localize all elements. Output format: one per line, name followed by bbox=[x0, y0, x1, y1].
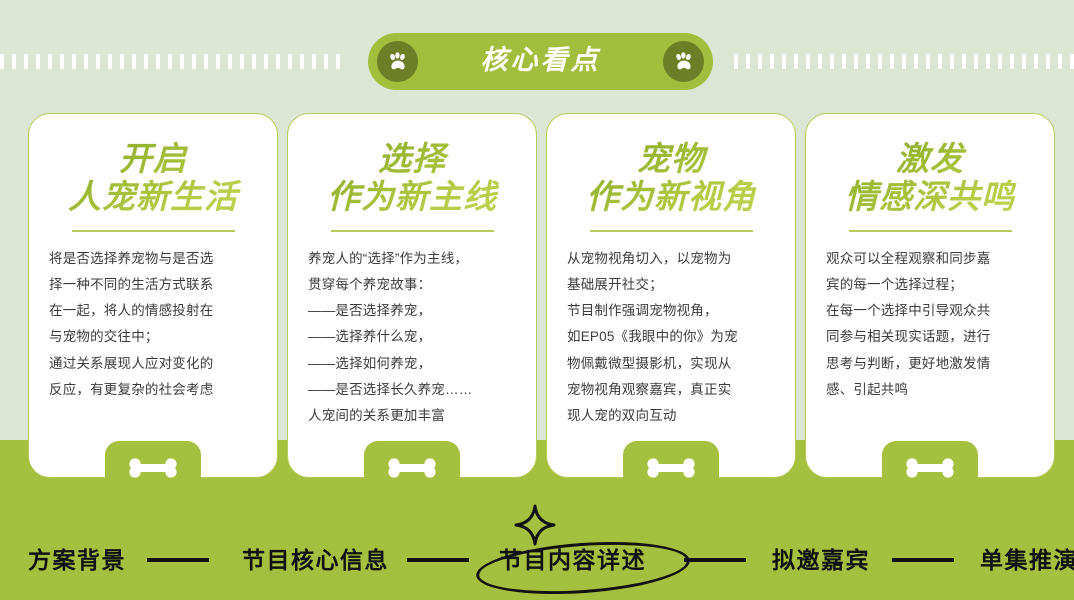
card-3-body: 从宠物视角切入，以宠物为 基础展开社交； 节目制作强调宠物视角， 如EP05《我… bbox=[567, 246, 775, 430]
card-4-body: 观众可以全程观察和同步嘉 宾的每一个选择过程； 在每一个选择中引导观众共 同参与… bbox=[826, 246, 1034, 404]
paw-icon-left bbox=[377, 41, 418, 82]
card-3-title-line2: 作为新视角 bbox=[567, 178, 775, 216]
card-4-divider bbox=[849, 230, 1012, 232]
card-2-body-line: 贯穿每个养宠故事： bbox=[308, 272, 516, 298]
card-3-divider bbox=[590, 230, 753, 232]
card-2-content: 选择 作为新主线 养宠人的“选择”作为主线， 贯穿每个养宠故事： ——是否选择养… bbox=[288, 114, 536, 430]
header-title: 核心看点 bbox=[481, 47, 601, 76]
card-2-title: 选择 作为新主线 bbox=[308, 140, 516, 217]
card-2-body-line: 人宠间的关系更加丰富 bbox=[308, 403, 516, 429]
card-3-content: 宠物 作为新视角 从宠物视角切入，以宠物为 基础展开社交； 节目制作强调宠物视角… bbox=[547, 114, 795, 430]
card-1-body-line: 择一种不同的生活方式联系 bbox=[49, 272, 257, 298]
poster-canvas: 核心看点 开启 人宠新生活 将是否选择养宠物与是否选 择一种不同的生活方式联系 … bbox=[0, 0, 1074, 600]
card-1-body-line: 将是否选择养宠物与是否选 bbox=[49, 246, 257, 272]
card-2-body-line: ——选择如何养宠， bbox=[308, 351, 516, 377]
highlight-card-4[interactable]: 激发 情感深共鸣 观众可以全程观察和同步嘉 宾的每一个选择过程； 在每一个选择中… bbox=[805, 113, 1055, 478]
card-1-body-line: 通过关系展现人应对变化的 bbox=[49, 351, 257, 377]
card-1-title-line2: 人宠新生活 bbox=[49, 178, 257, 216]
card-2-body-line: ——选择养什么宠， bbox=[308, 324, 516, 350]
nav-item-2[interactable]: 节目内容详述 bbox=[499, 549, 646, 572]
card-2-body-line: ——是否选择养宠， bbox=[308, 298, 516, 324]
card-3-title: 宠物 作为新视角 bbox=[567, 140, 775, 217]
bottom-nav: 方案背景 节目核心信息 节目内容详述 拟邀嘉宾 单集推演 bbox=[0, 520, 1074, 600]
card-2-body-line: 养宠人的“选择”作为主线， bbox=[308, 246, 516, 272]
highlight-card-3[interactable]: 宠物 作为新视角 从宠物视角切入，以宠物为 基础展开社交； 节目制作强调宠物视角… bbox=[546, 113, 796, 478]
sparkle-icon bbox=[513, 503, 557, 547]
card-2-title-line1: 选择 bbox=[308, 140, 516, 178]
card-3-body-line: 基础展开社交； bbox=[567, 272, 775, 298]
card-3-body-line: 如EP05《我眼中的你》为宠 bbox=[567, 324, 775, 350]
card-1-body: 将是否选择养宠物与是否选 择一种不同的生活方式联系 在一起，将人的情感投射在 与… bbox=[49, 246, 257, 404]
nav-separator-3 bbox=[892, 558, 954, 562]
card-3-bone-tab bbox=[623, 441, 719, 507]
card-4-bone-tab bbox=[882, 441, 978, 507]
tick-rule-right bbox=[734, 54, 1074, 69]
nav-separator-2 bbox=[684, 558, 746, 562]
nav-item-0[interactable]: 方案背景 bbox=[28, 549, 126, 572]
highlight-card-2[interactable]: 选择 作为新主线 养宠人的“选择”作为主线， 贯穿每个养宠故事： ——是否选择养… bbox=[287, 113, 537, 478]
card-3-body-line: 宠物视角观察嘉宾，真正实 bbox=[567, 377, 775, 403]
card-4-title-line1: 激发 bbox=[826, 140, 1034, 178]
card-3-body-line: 现人宠的双向互动 bbox=[567, 403, 775, 429]
nav-separator-1 bbox=[407, 558, 469, 562]
bone-icon bbox=[386, 458, 438, 478]
nav-item-4[interactable]: 单集推演 bbox=[980, 549, 1074, 572]
card-3-body-line: 从宠物视角切入，以宠物为 bbox=[567, 246, 775, 272]
card-4-content: 激发 情感深共鸣 观众可以全程观察和同步嘉 宾的每一个选择过程； 在每一个选择中… bbox=[806, 114, 1054, 403]
card-4-body-line: 感、引起共鸣 bbox=[826, 377, 1034, 403]
card-2-bone-tab bbox=[364, 441, 460, 507]
nav-item-3[interactable]: 拟邀嘉宾 bbox=[772, 549, 870, 572]
card-4-title: 激发 情感深共鸣 bbox=[826, 140, 1034, 217]
card-4-title-line2: 情感深共鸣 bbox=[826, 178, 1034, 216]
card-1-body-line: 在一起，将人的情感投射在 bbox=[49, 298, 257, 324]
tick-rule-left bbox=[0, 54, 348, 69]
card-1-body-line: 与宠物的交往中； bbox=[49, 324, 257, 350]
card-2-title-line2: 作为新主线 bbox=[308, 178, 516, 216]
nav-item-1[interactable]: 节目核心信息 bbox=[242, 549, 389, 572]
card-3-body-line: 物佩戴微型摄影机，实现从 bbox=[567, 351, 775, 377]
card-2-body: 养宠人的“选择”作为主线， 贯穿每个养宠故事： ——是否选择养宠， ——选择养什… bbox=[308, 246, 516, 430]
card-1-divider bbox=[72, 230, 235, 232]
card-1-body-line: 反应，有更复杂的社会考虑 bbox=[49, 377, 257, 403]
card-4-body-line: 同参与相关现实话题，进行 bbox=[826, 324, 1034, 350]
card-4-body-line: 观众可以全程观察和同步嘉 bbox=[826, 246, 1034, 272]
header-pill: 核心看点 bbox=[368, 33, 713, 90]
nav-item-2-wrapper[interactable]: 节目内容详述 bbox=[499, 549, 646, 572]
card-1-bone-tab bbox=[105, 441, 201, 507]
card-1-title: 开启 人宠新生活 bbox=[49, 140, 257, 217]
card-4-body-line: 在每一个选择中引导观众共 bbox=[826, 298, 1034, 324]
card-3-body-line: 节目制作强调宠物视角， bbox=[567, 298, 775, 324]
bone-icon bbox=[904, 458, 956, 478]
highlight-card-1[interactable]: 开启 人宠新生活 将是否选择养宠物与是否选 择一种不同的生活方式联系 在一起，将… bbox=[28, 113, 278, 478]
card-3-title-line1: 宠物 bbox=[567, 140, 775, 178]
card-4-body-line: 思考与判断，更好地激发情 bbox=[826, 351, 1034, 377]
bone-icon bbox=[127, 458, 179, 478]
nav-separator-0 bbox=[147, 558, 209, 562]
card-1-title-line1: 开启 bbox=[49, 140, 257, 178]
card-2-body-line: ——是否选择长久养宠…… bbox=[308, 377, 516, 403]
paw-icon-right bbox=[663, 41, 704, 82]
card-4-body-line: 宾的每一个选择过程； bbox=[826, 272, 1034, 298]
card-1-content: 开启 人宠新生活 将是否选择养宠物与是否选 择一种不同的生活方式联系 在一起，将… bbox=[29, 114, 277, 403]
card-2-divider bbox=[331, 230, 494, 232]
bone-icon bbox=[645, 458, 697, 478]
